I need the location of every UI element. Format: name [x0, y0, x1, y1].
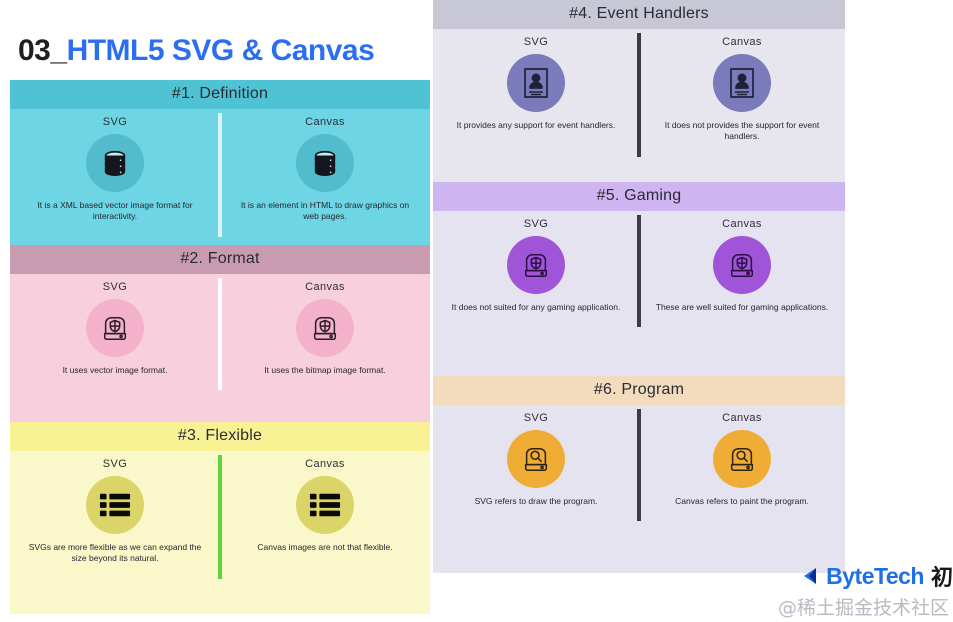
comparison-section: #2. FormatSVGIt uses vector image format… [10, 245, 430, 422]
pane-label: SVG [103, 458, 127, 470]
page-title: 03_HTML5 SVG & Canvas [18, 36, 374, 66]
section-heading: #3. Flexible [10, 422, 430, 451]
pane-description: These are well suited for gaming applica… [656, 302, 828, 313]
shield-box-icon [713, 236, 771, 294]
compare-pane-canvas: CanvasIt does not provides the support f… [639, 29, 845, 157]
section-body: SVGIt is a XML based vector image format… [10, 109, 430, 237]
pane-description: Canvas refers to paint the program. [675, 496, 809, 507]
pane-description: It is an element in HTML to draw graphic… [235, 200, 415, 223]
pane-label: SVG [524, 36, 548, 48]
shield-box-icon [86, 299, 144, 357]
database-icon [86, 134, 144, 192]
pane-label: Canvas [305, 116, 345, 128]
pane-label: Canvas [305, 281, 345, 293]
pane-label: SVG [524, 412, 548, 424]
logo-cn-text: 初 [931, 560, 953, 592]
pane-label: SVG [524, 218, 548, 230]
page-title-number: 03_ [18, 34, 67, 67]
left-column: #1. DefinitionSVGIt is a XML based vecto… [10, 80, 430, 614]
compare-pane-svg: SVGIt provides any support for event han… [433, 29, 639, 157]
compare-pane-canvas: CanvasThese are well suited for gaming a… [639, 211, 845, 327]
compare-pane-canvas: CanvasIt uses the bitmap image format. [220, 274, 430, 390]
chevron-left-icon [800, 565, 822, 587]
id-card-icon [507, 54, 565, 112]
shield-box-icon [507, 236, 565, 294]
bytetech-logo: ByteTech 初 [800, 560, 953, 592]
compare-pane-svg: SVGIt uses vector image format. [10, 274, 220, 390]
right-column: #4. Event HandlersSVGIt provides any sup… [433, 0, 845, 573]
pane-description: It provides any support for event handle… [457, 120, 616, 131]
pane-label: Canvas [722, 412, 762, 424]
section-body: SVGSVG refers to draw the program.Canvas… [433, 405, 845, 521]
section-heading: #5. Gaming [433, 182, 845, 211]
pane-description: SVG refers to draw the program. [475, 496, 598, 507]
section-heading: #4. Event Handlers [433, 0, 845, 29]
pane-description: It uses vector image format. [63, 365, 168, 376]
section-body: SVGIt provides any support for event han… [433, 29, 845, 157]
compare-pane-svg: SVGIt does not suited for any gaming app… [433, 211, 639, 327]
logo-text: ByteTech [826, 563, 924, 590]
section-heading: #1. Definition [10, 80, 430, 109]
pane-description: It does not suited for any gaming applic… [452, 302, 621, 313]
pane-label: Canvas [305, 458, 345, 470]
database-icon [296, 134, 354, 192]
search-box-icon [713, 430, 771, 488]
comparison-section: #5. GamingSVGIt does not suited for any … [433, 182, 845, 376]
section-heading: #6. Program [433, 376, 845, 405]
comparison-section: #3. FlexibleSVGSVGs are more flexible as… [10, 422, 430, 614]
section-body: SVGIt uses vector image format.CanvasIt … [10, 274, 430, 390]
pane-description: Canvas images are not that flexible. [257, 542, 392, 553]
compare-pane-canvas: CanvasIt is an element in HTML to draw g… [220, 109, 430, 237]
pane-label: SVG [103, 281, 127, 293]
pane-description: It is a XML based vector image format fo… [25, 200, 205, 223]
pane-label: Canvas [722, 218, 762, 230]
id-card-icon [713, 54, 771, 112]
pane-label: Canvas [722, 36, 762, 48]
list-view-icon [296, 476, 354, 534]
pane-description: It uses the bitmap image format. [264, 365, 385, 376]
search-box-icon [507, 430, 565, 488]
compare-pane-canvas: CanvasCanvas images are not that flexibl… [220, 451, 430, 579]
comparison-section: #1. DefinitionSVGIt is a XML based vecto… [10, 80, 430, 245]
comparison-section: #6. ProgramSVGSVG refers to draw the pro… [433, 376, 845, 573]
section-heading: #2. Format [10, 245, 430, 274]
section-body: SVGSVGs are more flexible as we can expa… [10, 451, 430, 579]
compare-pane-svg: SVGSVGs are more flexible as we can expa… [10, 451, 220, 579]
page-title-text: HTML5 SVG & Canvas [67, 34, 375, 67]
watermark-text: @稀土掘金技术社区 [778, 593, 949, 620]
compare-pane-svg: SVGIt is a XML based vector image format… [10, 109, 220, 237]
pane-label: SVG [103, 116, 127, 128]
comparison-section: #4. Event HandlersSVGIt provides any sup… [433, 0, 845, 182]
pane-description: SVGs are more flexible as we can expand … [25, 542, 205, 565]
section-body: SVGIt does not suited for any gaming app… [433, 211, 845, 327]
video-left-edge [0, 0, 10, 622]
list-view-icon [86, 476, 144, 534]
compare-pane-canvas: CanvasCanvas refers to paint the program… [639, 405, 845, 521]
compare-pane-svg: SVGSVG refers to draw the program. [433, 405, 639, 521]
shield-box-icon [296, 299, 354, 357]
pane-description: It does not provides the support for eve… [652, 120, 832, 143]
